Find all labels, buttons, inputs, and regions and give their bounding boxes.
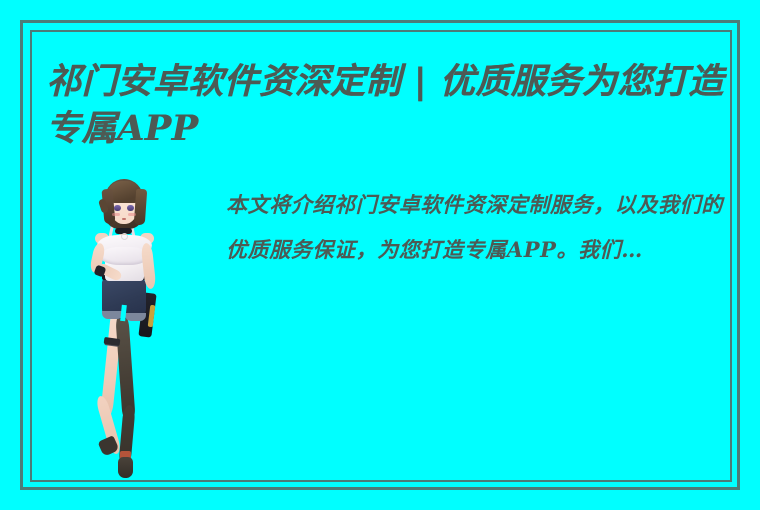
article-excerpt: 本文将介绍祁门安卓软件资深定制服务，以及我们的优质服务保证，为您打造专属APP。… bbox=[226, 182, 732, 272]
hair-side-right bbox=[134, 189, 147, 226]
thigh-garter-strap bbox=[104, 337, 121, 346]
blush-left bbox=[112, 213, 120, 216]
mouth bbox=[122, 218, 126, 220]
eye-left bbox=[114, 205, 121, 211]
anime-girl-illustration bbox=[83, 173, 163, 478]
page-title: 祁门安卓软件资深定制 | 优质服务为您打造专属APP bbox=[46, 58, 746, 152]
choker-ring bbox=[121, 233, 128, 240]
eye-right bbox=[127, 205, 134, 211]
boot-front bbox=[118, 457, 133, 478]
shorts-cuff-right bbox=[125, 313, 146, 321]
article-preview-card: 祁门安卓软件资深定制 | 优质服务为您打造专属APP 本文将介绍祁门安卓软件资深… bbox=[0, 0, 760, 510]
blush-right bbox=[128, 213, 136, 216]
